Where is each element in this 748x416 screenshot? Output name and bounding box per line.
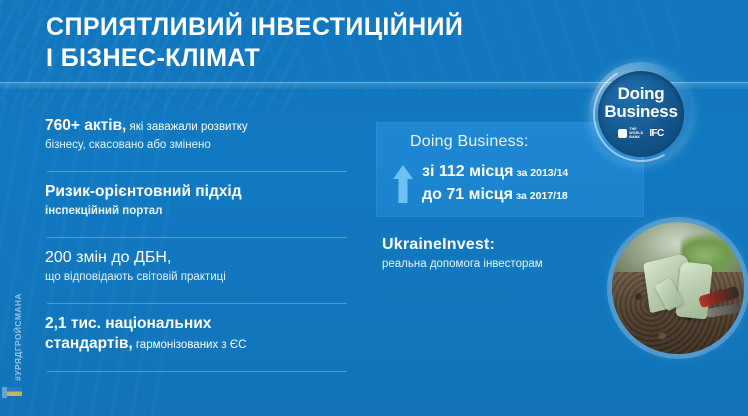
item-headline: Ризик-орієнтовний підхід bbox=[45, 182, 357, 202]
item-headline-bold: Ризик-орієнтовний підхід bbox=[45, 183, 242, 200]
ukraine-flag-icon bbox=[7, 387, 22, 396]
divider bbox=[47, 237, 347, 238]
item-sub-rest: гармонізованих з ЄС bbox=[133, 339, 247, 351]
item-headline: 2,1 тис. національних bbox=[45, 314, 357, 334]
divider bbox=[47, 171, 347, 172]
divider bbox=[47, 371, 347, 372]
divider bbox=[47, 303, 347, 304]
item-sub: інспекційний портал bbox=[45, 203, 357, 220]
item-sub: бізнесу, скасовано або змінено bbox=[45, 137, 357, 154]
ukraine-invest-block: UkraineInvest: реальна допомога інвестор… bbox=[382, 236, 632, 270]
item-sub: що відповідають світовій практиці bbox=[45, 269, 357, 286]
doing-business-logo-badge: Doing Business THE WORLD BANK IFC bbox=[589, 62, 693, 166]
doing-business-rank-line-1: зі 112 місцяза 2013/14 bbox=[422, 163, 568, 181]
doing-business-rank-line-2: до 71 місцяза 2017/18 bbox=[422, 186, 568, 204]
item-headline: 760+ актів, які заважали розвитку bbox=[45, 116, 357, 136]
item-headline-rest: які заважали розвитку bbox=[126, 121, 247, 133]
item-headline-bold: 2,1 тис. національних bbox=[45, 315, 211, 332]
arrow-up-icon bbox=[392, 164, 414, 204]
ukraine-invest-title: UkraineInvest: bbox=[382, 236, 632, 254]
slide-title-line2: І БІЗНЕС-КЛІМАТ bbox=[46, 43, 606, 74]
ukraine-invest-subtitle: реальна допомога інвесторам bbox=[382, 258, 632, 270]
item-sub-bold: стандартів, bbox=[45, 335, 133, 352]
list-item: 760+ актів, які заважали розвитку бізнес… bbox=[45, 116, 357, 162]
slide-title-line1: СПРИЯТЛИВИЙ ІНВЕСТИЦІЙНИЙ bbox=[46, 13, 463, 41]
item-headline: 200 змін до ДБН, bbox=[45, 248, 357, 269]
doing-business-panel-title: Doing Business: bbox=[410, 133, 529, 151]
money-growing-photo bbox=[612, 222, 744, 354]
list-item: Ризик-орієнтовний підхід інспекційний по… bbox=[45, 182, 357, 228]
watermark: #УРЯДГРОЙСМАНА bbox=[4, 286, 26, 402]
rank-line-1-main: зі 112 місця bbox=[422, 163, 513, 180]
rank-line-2-main: до 71 місця bbox=[422, 186, 513, 203]
list-item: 2,1 тис. національних стандартів, гармон… bbox=[45, 314, 357, 362]
slide-title: СПРИЯТЛИВИЙ ІНВЕСТИЦІЙНИЙ І БІЗНЕС-КЛІМА… bbox=[46, 12, 606, 73]
rank-line-2-year: за 2017/18 bbox=[516, 190, 568, 202]
list-item: 200 змін до ДБН, що відповідають світові… bbox=[45, 248, 357, 294]
rank-line-1-year: за 2013/14 bbox=[516, 167, 568, 179]
presentation-slide: СПРИЯТЛИВИЙ ІНВЕСТИЦІЙНИЙ І БІЗНЕС-КЛІМА… bbox=[0, 0, 748, 416]
item-headline-bold: 760+ актів, bbox=[45, 117, 126, 134]
watermark-text: #УРЯДГРОЙСМАНА bbox=[13, 281, 23, 393]
left-content-column: 760+ актів, які заважали розвитку бізнес… bbox=[45, 116, 357, 382]
item-headline-bold: 200 змін до ДБН, bbox=[45, 249, 171, 266]
item-headline-second-line: стандартів, гармонізованих з ЄС bbox=[45, 334, 357, 354]
